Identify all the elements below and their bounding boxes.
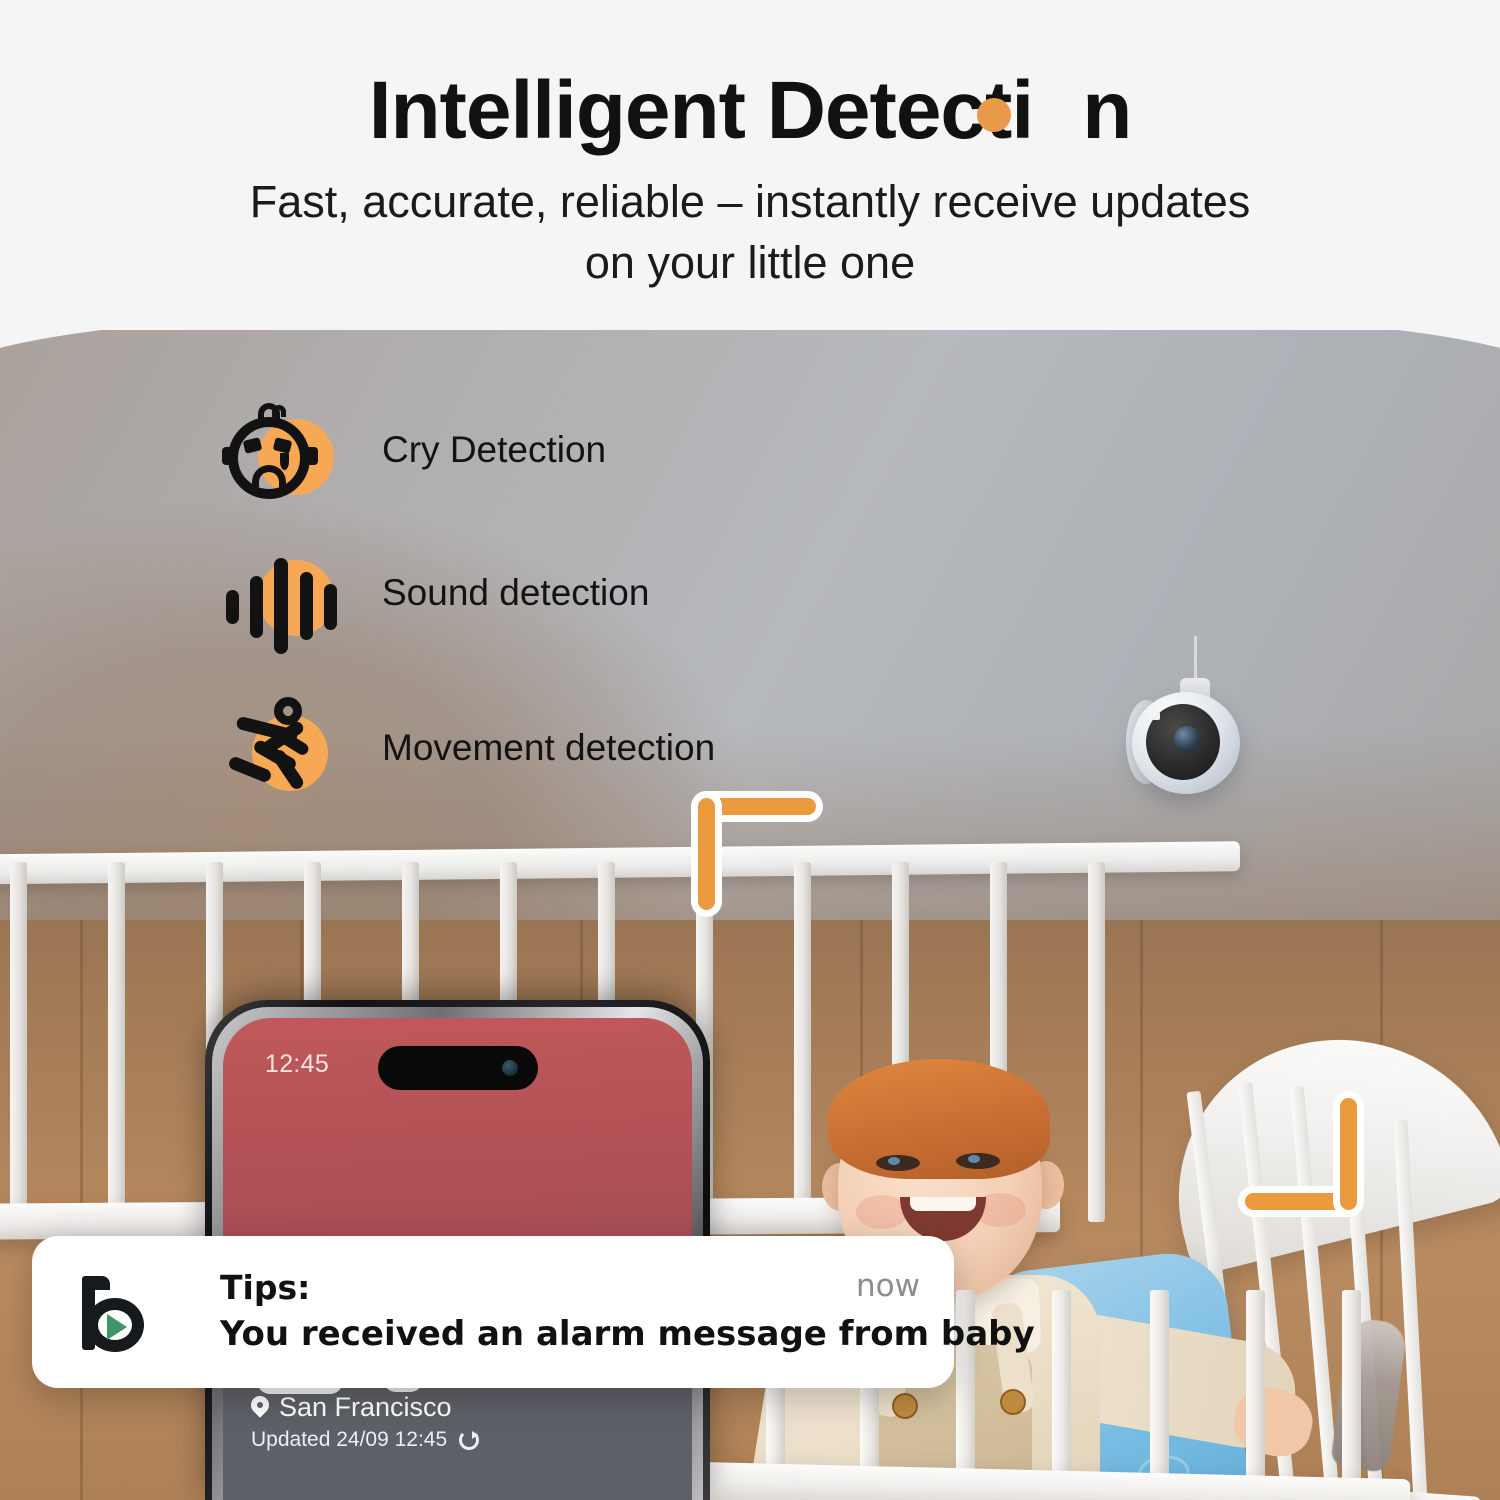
page-subtitle: Fast, accurate, reliable – instantly rec…: [220, 172, 1280, 294]
phone-updated-text: Updated 24/09 12:45: [251, 1428, 447, 1452]
page-title-o-spacer: o: [1033, 65, 1082, 156]
phone-location-row: San Francisco: [251, 1392, 452, 1423]
notification-title: Tips:: [220, 1268, 310, 1307]
feature-label-cry-detection: Cry Detection: [382, 429, 606, 471]
running-person-icon: [222, 693, 342, 798]
sound-wave-icon: [222, 548, 342, 653]
feature-label-movement-detection: Movement detection: [382, 727, 715, 769]
phone-updated-row: Updated 24/09 12:45: [251, 1428, 479, 1452]
refresh-icon[interactable]: [459, 1430, 479, 1450]
header-band: Intelligent Detection Fast, accurate, re…: [0, 0, 1500, 330]
notification-body: You received an alarm message from baby: [220, 1314, 1035, 1354]
camera-indicator-dot: [1152, 712, 1160, 720]
dynamic-island: [378, 1046, 538, 1090]
page-title-text-before: Intelligent Detecti: [369, 65, 1033, 156]
camera-glass: [1174, 726, 1200, 752]
notification-timestamp: now: [856, 1268, 920, 1304]
page-title-text-after: n: [1082, 65, 1131, 156]
b-play-logo-icon: [80, 1276, 152, 1352]
location-pin-icon: [251, 1396, 269, 1420]
feature-label-sound-detection: Sound detection: [382, 572, 649, 614]
front-camera-icon: [502, 1060, 518, 1076]
notification-card[interactable]: Tips: You received an alarm message from…: [32, 1236, 954, 1388]
crying-baby-face-icon: [222, 403, 342, 508]
page-title: Intelligent Detection: [0, 70, 1500, 152]
phone-status-time: 12:45: [265, 1050, 329, 1079]
promo-page: Intelligent Detection Fast, accurate, re…: [0, 0, 1500, 1500]
phone-location-text: San Francisco: [279, 1392, 452, 1423]
